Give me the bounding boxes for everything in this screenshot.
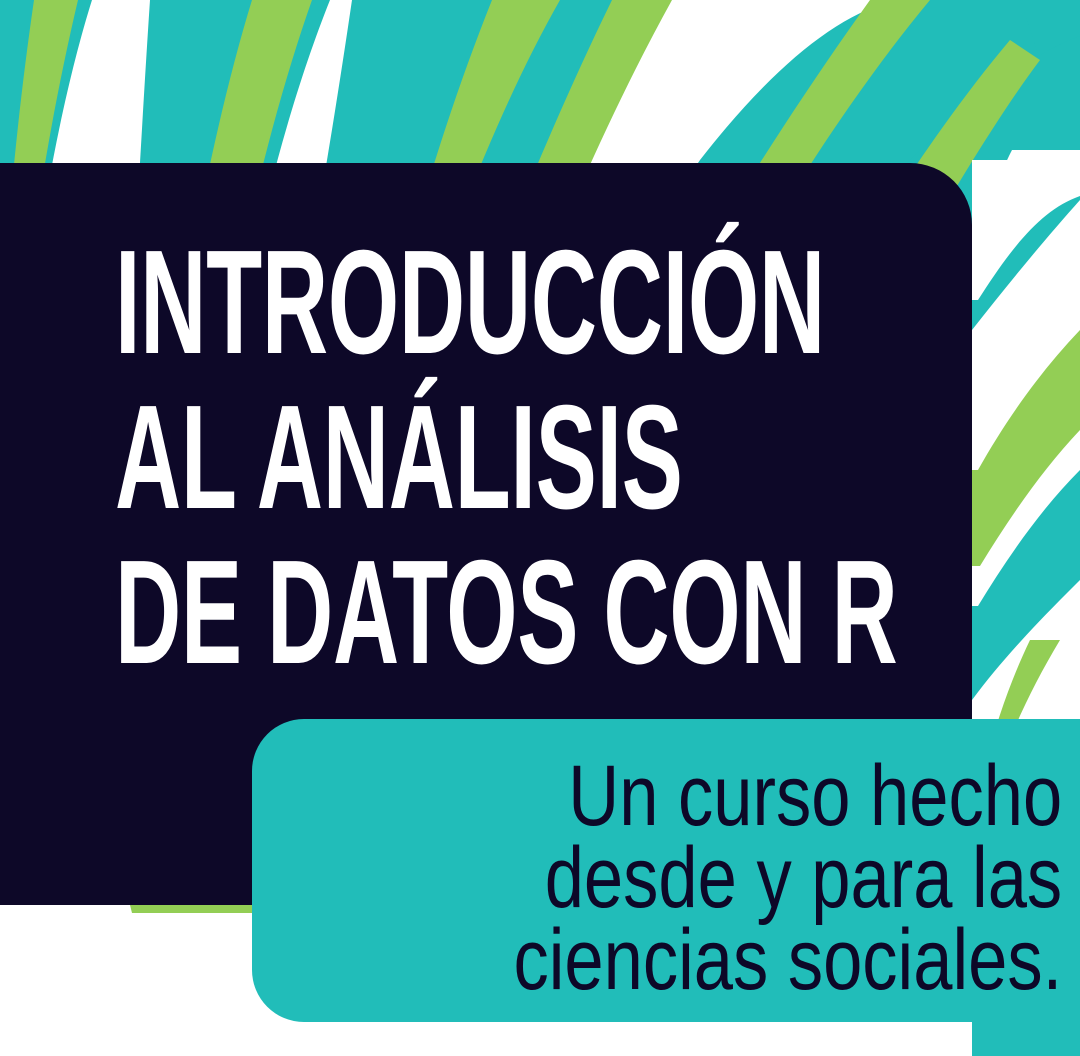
subtitle-line-3: ciencias sociales. (513, 919, 1062, 1001)
page-subtitle: Un curso hecho desde y para las ciencias… (393, 755, 1062, 1001)
subtitle-line-1: Un curso hecho (513, 755, 1062, 837)
page-title: INTRODUCCIÓN AL ANÁLISIS DE DATOS CON R (115, 225, 935, 690)
subtitle-line-2: desde y para las (513, 837, 1062, 919)
subtitle-card: Un curso hecho desde y para las ciencias… (252, 719, 1080, 1022)
title-line-2: AL ANÁLISIS (115, 380, 623, 535)
title-line-1: INTRODUCCIÓN (115, 225, 623, 380)
course-title-poster: INTRODUCCIÓN AL ANÁLISIS DE DATOS CON R … (0, 0, 1080, 1056)
title-line-3: DE DATOS CON R (115, 535, 623, 690)
